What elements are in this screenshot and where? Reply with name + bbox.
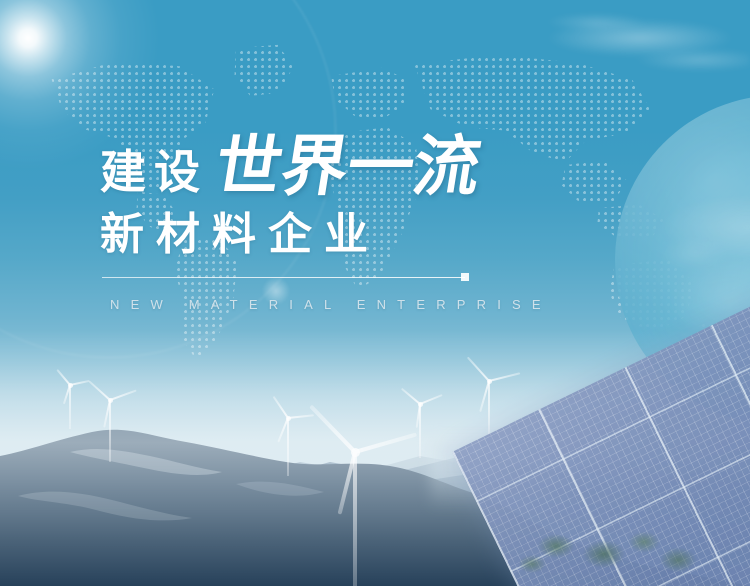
headline-prefix: 建设 [100,149,208,199]
banner-text-block: 建设 世界一流 新材料企业 NEW MATERIAL ENTERPRISE [0,0,750,586]
banner-subtitle: NEW MATERIAL ENTERPRISE [110,297,552,312]
hero-banner: 建设 世界一流 新材料企业 NEW MATERIAL ENTERPRISE [0,0,750,586]
headline-accent: 世界一流 [211,133,485,199]
headline-divider [102,277,465,278]
headline-line1: 建设 世界一流 [100,133,480,199]
divider-end-cap [461,273,469,281]
headline-line2: 新材料企业 [100,213,380,257]
